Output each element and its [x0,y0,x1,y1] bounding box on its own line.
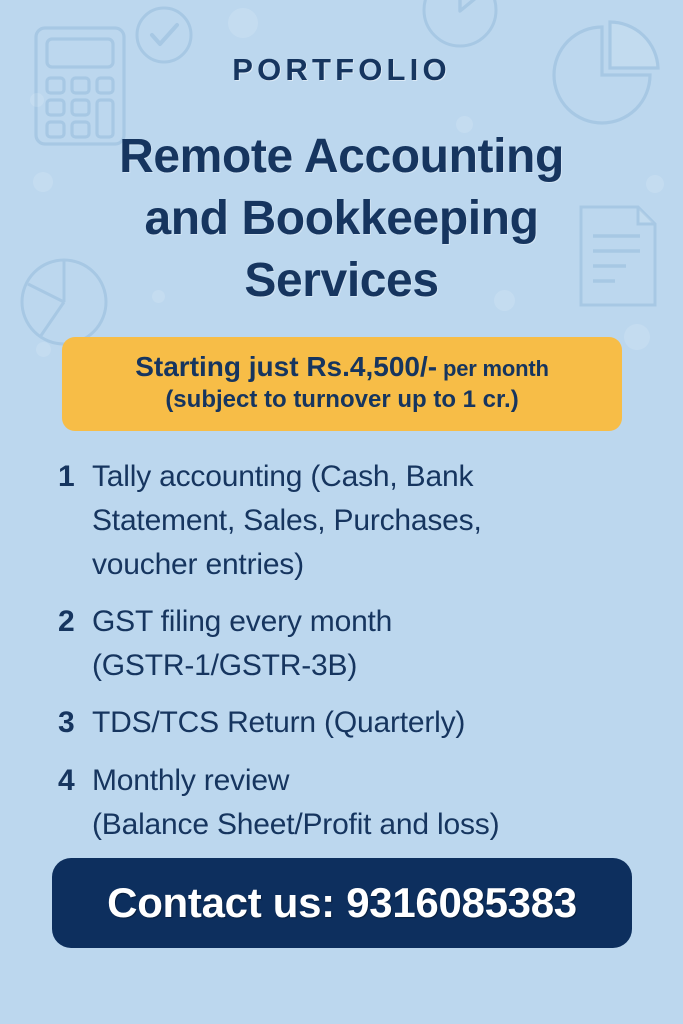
list-item-line: Tally accounting (Cash, Bank [92,455,482,499]
price-banner: Starting just Rs.4,500/- per month (subj… [62,337,622,431]
list-item-number: 1 [56,455,92,499]
page-title-line-2: and Bookkeeping [40,188,643,250]
poster-content: PORTFOLIO Remote Accounting and Bookkeep… [0,0,683,1024]
list-item-number: 2 [56,600,92,644]
list-item-text: TDS/TCS Return (Quarterly) [92,701,465,745]
page-title: Remote Accounting and Bookkeeping Servic… [40,126,643,312]
list-item-line: voucher entries) [92,543,482,587]
list-item-line: TDS/TCS Return (Quarterly) [92,701,465,745]
price-main-line: Starting just Rs.4,500/- per month [78,351,606,383]
page-title-line-1: Remote Accounting [40,126,643,188]
list-item-text: Monthly review (Balance Sheet/Profit and… [92,759,499,847]
list-item-text: GST filing every month (GSTR-1/GSTR-3B) [92,600,392,688]
page-kicker: PORTFOLIO [0,52,683,88]
list-item-number: 4 [56,759,92,803]
list-item: 4 Monthly review (Balance Sheet/Profit a… [56,759,647,847]
price-period-text: per month [437,356,549,381]
list-item: 1 Tally accounting (Cash, Bank Statement… [56,455,647,587]
list-item-text: Tally accounting (Cash, Bank Statement, … [92,455,482,587]
portfolio-poster: PORTFOLIO Remote Accounting and Bookkeep… [0,0,683,1024]
contact-phone-label: Contact us: 9316085383 [107,879,577,927]
list-item-number: 3 [56,701,92,745]
list-item-line: Statement, Sales, Purchases, [92,499,482,543]
contact-banner[interactable]: Contact us: 9316085383 [52,858,632,948]
price-amount-text: Starting just Rs.4,500/- [135,351,437,382]
list-item-line: Monthly review [92,759,499,803]
price-condition-note: (subject to turnover up to 1 cr.) [78,386,606,415]
list-item-line: (Balance Sheet/Profit and loss) [92,803,499,847]
list-item-line: (GSTR-1/GSTR-3B) [92,644,392,688]
list-item-line: GST filing every month [92,600,392,644]
list-item: 2 GST filing every month (GSTR-1/GSTR-3B… [56,600,647,688]
list-item: 3 TDS/TCS Return (Quarterly) [56,701,647,745]
page-title-line-3: Services [40,250,643,312]
services-list: 1 Tally accounting (Cash, Bank Statement… [56,455,647,860]
